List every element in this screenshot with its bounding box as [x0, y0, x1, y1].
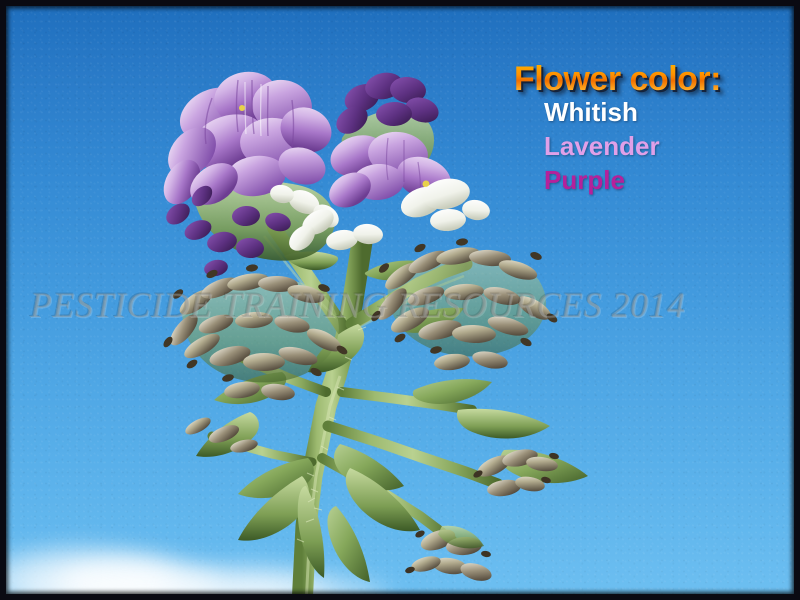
image-frame: PESTICIDE TRAINING RESOURCES 2014 Flower… [0, 0, 800, 600]
spent-blossom-cluster-left [162, 264, 349, 403]
color-label-lavender: Lavender [544, 130, 794, 164]
color-label-purple: Purple [544, 164, 794, 198]
photograph: PESTICIDE TRAINING RESOURCES 2014 Flower… [6, 6, 794, 594]
flower-color-callout: Flower color: Whitish Lavender Purple [514, 62, 794, 197]
callout-title: Flower color: [514, 62, 794, 96]
spent-blossom-cluster-right [370, 238, 559, 372]
color-label-whitish: Whitish [544, 96, 794, 130]
purple-flower-cluster [156, 66, 343, 278]
spent-blossom-cluster-bottom [404, 525, 493, 584]
